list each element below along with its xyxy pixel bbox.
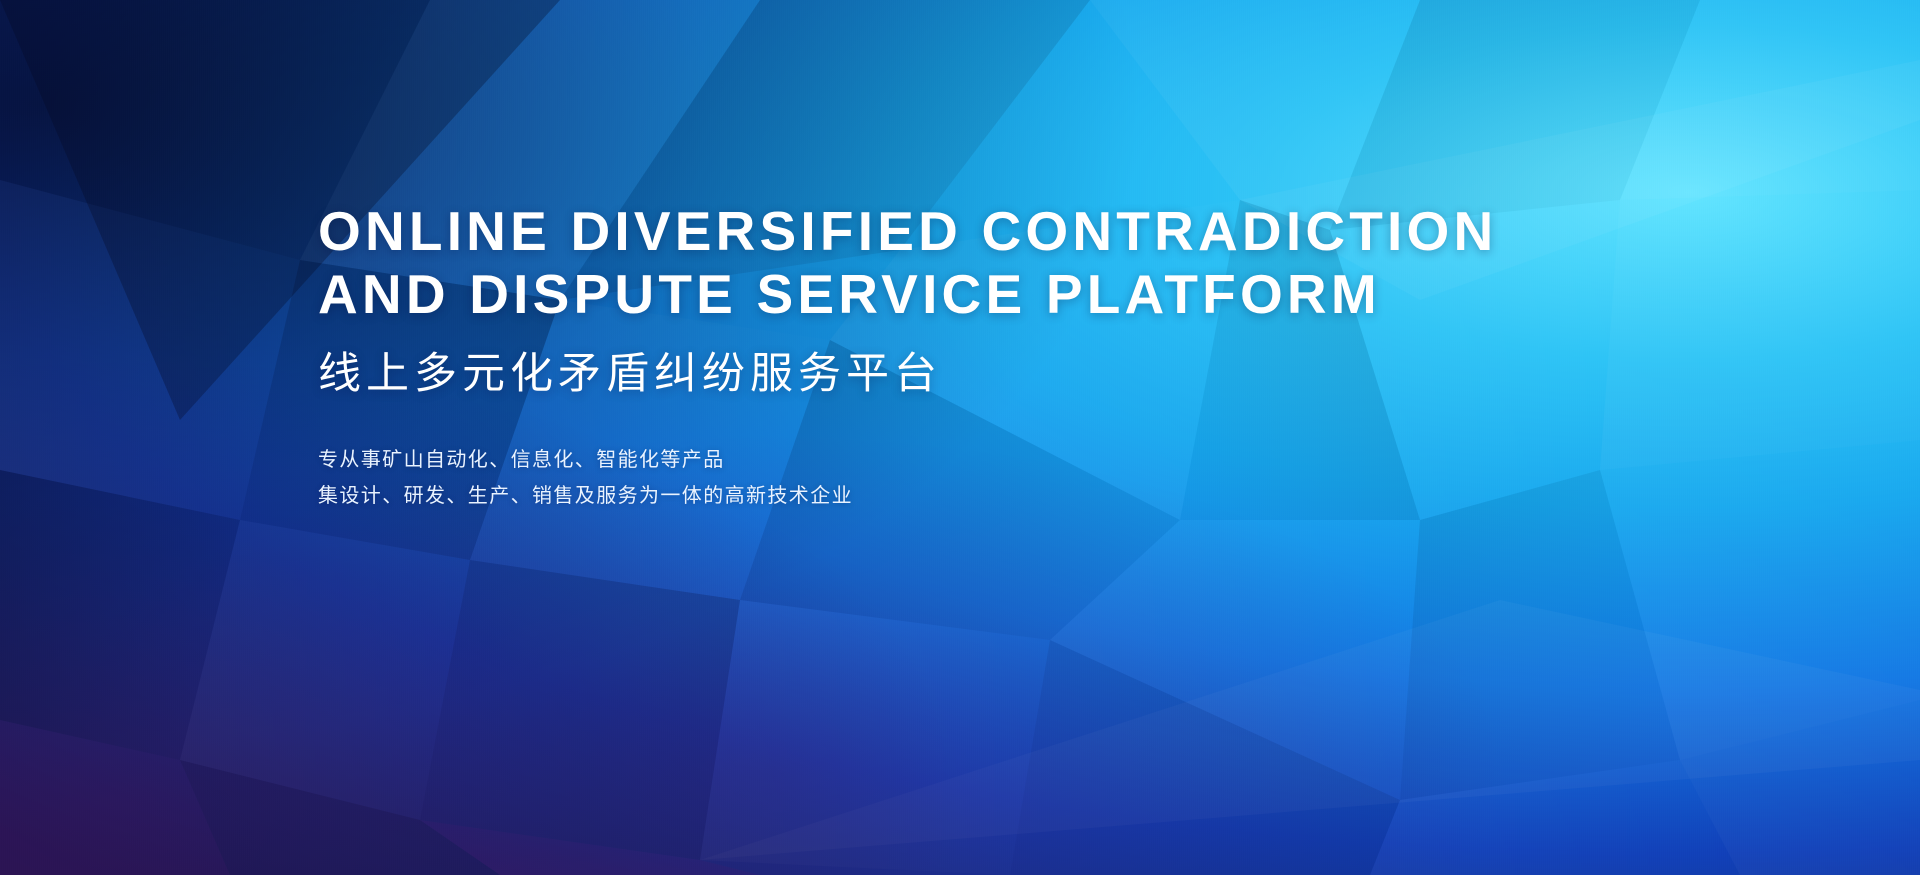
hero-description: 专从事矿山自动化、信息化、智能化等产品 集设计、研发、生产、销售及服务为一体的高… (318, 442, 1718, 514)
page-title-chinese: 线上多元化矛盾纠纷服务平台 (318, 348, 1718, 400)
hero-banner: ONLINE DIVERSIFIED CONTRADICTION AND DIS… (0, 0, 1920, 875)
hero-content: ONLINE DIVERSIFIED CONTRADICTION AND DIS… (318, 200, 1718, 514)
description-line-2: 集设计、研发、生产、销售及服务为一体的高新技术企业 (318, 478, 1718, 514)
description-line-1: 专从事矿山自动化、信息化、智能化等产品 (318, 442, 1718, 478)
page-title-english: ONLINE DIVERSIFIED CONTRADICTION AND DIS… (318, 200, 1718, 326)
